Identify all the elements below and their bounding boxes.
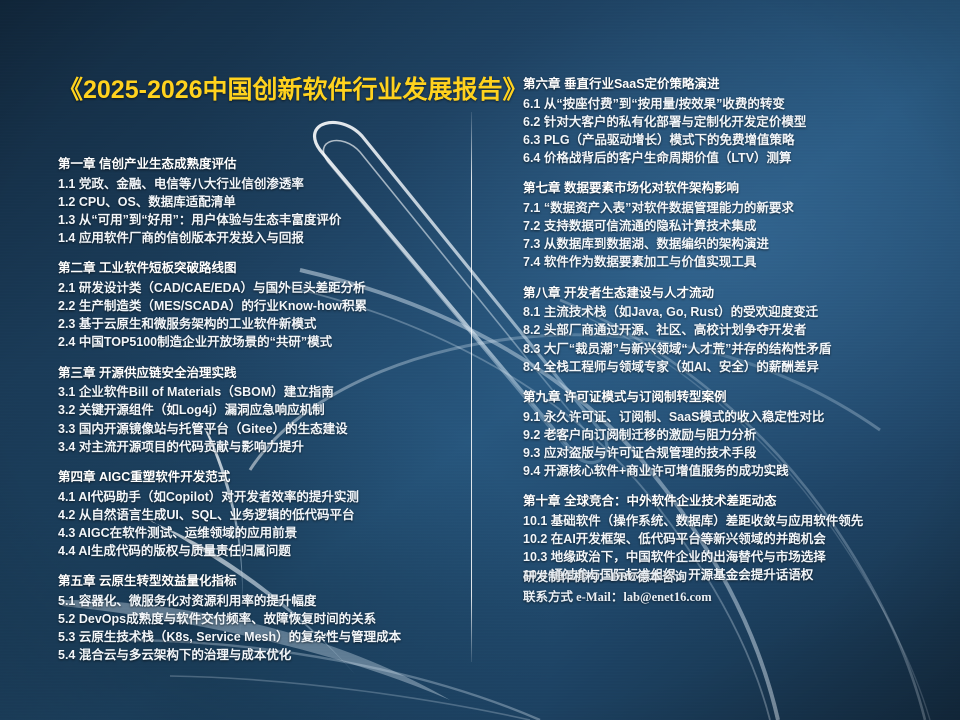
chapter-item: 6.1 从“按座付费”到“按用量/按效果”收费的转变 xyxy=(523,95,943,113)
chapter-item: 6.2 针对大客户的私有化部署与定制化开发定价模型 xyxy=(523,113,943,131)
chapter-block: 第三章 开源供应链安全治理实践3.1 企业软件Bill of Materials… xyxy=(58,365,458,456)
chapter-block: 第七章 数据要素市场化对软件架构影响7.1 “数据资产入表”对软件数据管理能力的… xyxy=(523,180,943,271)
chapter-title: 第四章 AIGC重塑软件开发范式 xyxy=(58,469,458,487)
chapter-title: 第八章 开发者生态建设与人才流动 xyxy=(523,285,943,303)
chapter-item: 6.4 价格战背后的客户生命周期价值（LTV）测算 xyxy=(523,149,943,167)
chapter-item: 7.2 支持数据可信流通的隐私计算技术集成 xyxy=(523,217,943,235)
report-slide: 《2025-2026中国创新软件行业发展报告》 第一章 信创产业生态成熟度评估1… xyxy=(0,0,960,720)
column-divider xyxy=(471,112,472,662)
chapter-item: 5.4 混合云与多云架构下的治理与成本优化 xyxy=(58,646,458,664)
footer-credits: 研发制作机构：DBC德本咨询 联系方式 e-Mail：lab@enet16.co… xyxy=(523,567,712,607)
chapter-item: 1.4 应用软件厂商的信创版本开发投入与回报 xyxy=(58,229,458,247)
chapter-item: 8.3 大厂“裁员潮”与新兴领域“人才荒”并存的结构性矛盾 xyxy=(523,340,943,358)
chapter-item: 8.4 全栈工程师与领域专家（如AI、安全）的薪酬差异 xyxy=(523,358,943,376)
chapter-item: 9.3 应对盗版与许可证合规管理的技术手段 xyxy=(523,444,943,462)
chapter-title: 第五章 云原生转型效益量化指标 xyxy=(58,573,458,591)
chapter-item: 8.2 头部厂商通过开源、社区、高校计划争夺开发者 xyxy=(523,321,943,339)
chapter-title: 第二章 工业软件短板突破路线图 xyxy=(58,260,458,278)
chapter-item: 5.2 DevOps成熟度与软件交付频率、故障恢复时间的关系 xyxy=(58,610,458,628)
chapter-title: 第七章 数据要素市场化对软件架构影响 xyxy=(523,180,943,198)
chapter-item: 10.2 在AI开发框架、低代码平台等新兴领域的并跑机会 xyxy=(523,530,943,548)
chapter-title: 第一章 信创产业生态成熟度评估 xyxy=(58,156,458,174)
chapter-item: 1.1 党政、金融、电信等八大行业信创渗透率 xyxy=(58,175,458,193)
chapter-item: 4.1 AI代码助手（如Copilot）对开发者效率的提升实测 xyxy=(58,488,458,506)
chapter-item: 10.1 基础软件（操作系统、数据库）差距收敛与应用软件领先 xyxy=(523,512,943,530)
chapter-item: 6.3 PLG（产品驱动增长）模式下的免费增值策略 xyxy=(523,131,943,149)
chapter-item: 4.4 AI生成代码的版权与质量责任归属问题 xyxy=(58,542,458,560)
chapter-item: 1.2 CPU、OS、数据库适配清单 xyxy=(58,193,458,211)
chapter-block: 第一章 信创产业生态成熟度评估1.1 党政、金融、电信等八大行业信创渗透率1.2… xyxy=(58,156,458,247)
producer-line: 研发制作机构：DBC德本咨询 xyxy=(523,567,712,587)
chapter-item: 4.2 从自然语言生成UI、SQL、业务逻辑的低代码平台 xyxy=(58,506,458,524)
chapter-item: 7.4 软件作为数据要素加工与价值实现工具 xyxy=(523,253,943,271)
chapter-item: 3.1 企业软件Bill of Materials（SBOM）建立指南 xyxy=(58,383,458,401)
chapter-item: 3.2 关键开源组件（如Log4j）漏洞应急响应机制 xyxy=(58,401,458,419)
chapter-title: 第六章 垂直行业SaaS定价策略演进 xyxy=(523,76,943,94)
chapter-item: 2.1 研发设计类（CAD/CAE/EDA）与国外巨头差距分析 xyxy=(58,279,458,297)
chapter-item: 9.2 老客户向订阅制迁移的激励与阻力分析 xyxy=(523,426,943,444)
chapter-item: 7.3 从数据库到数据湖、数据编织的架构演进 xyxy=(523,235,943,253)
chapter-block: 第八章 开发者生态建设与人才流动8.1 主流技术栈（如Java, Go, Rus… xyxy=(523,285,943,376)
chapter-item: 3.4 对主流开源项目的代码贡献与影响力提升 xyxy=(58,438,458,456)
contact-line: 联系方式 e-Mail：lab@enet16.com xyxy=(523,587,712,607)
chapter-item: 2.4 中国TOP5100制造企业开放场景的“共研”模式 xyxy=(58,333,458,351)
chapter-title: 第九章 许可证模式与订阅制转型案例 xyxy=(523,389,943,407)
chapter-item: 9.4 开源核心软件+商业许可增值服务的成功实践 xyxy=(523,462,943,480)
chapter-title: 第三章 开源供应链安全治理实践 xyxy=(58,365,458,383)
chapter-item: 1.3 从“可用”到“好用”：用户体验与生态丰富度评价 xyxy=(58,211,458,229)
chapter-item: 2.3 基于云原生和微服务架构的工业软件新模式 xyxy=(58,315,458,333)
chapter-item: 2.2 生产制造类（MES/SCADA）的行业Know-how积累 xyxy=(58,297,458,315)
left-toc-column: 第一章 信创产业生态成熟度评估1.1 党政、金融、电信等八大行业信创渗透率1.2… xyxy=(58,156,458,677)
chapter-block: 第四章 AIGC重塑软件开发范式4.1 AI代码助手（如Copilot）对开发者… xyxy=(58,469,458,560)
chapter-block: 第二章 工业软件短板突破路线图2.1 研发设计类（CAD/CAE/EDA）与国外… xyxy=(58,260,458,351)
chapter-item: 9.1 永久许可证、订阅制、SaaS模式的收入稳定性对比 xyxy=(523,408,943,426)
chapter-item: 5.1 容器化、微服务化对资源利用率的提升幅度 xyxy=(58,592,458,610)
report-title: 《2025-2026中国创新软件行业发展报告》 xyxy=(58,70,528,106)
chapter-block: 第六章 垂直行业SaaS定价策略演进6.1 从“按座付费”到“按用量/按效果”收… xyxy=(523,76,943,167)
chapter-item: 10.3 地缘政治下，中国软件企业的出海替代与市场选择 xyxy=(523,548,943,566)
chapter-title: 第十章 全球竞合：中外软件企业技术差距动态 xyxy=(523,493,943,511)
chapter-item: 8.1 主流技术栈（如Java, Go, Rust）的受欢迎度变迁 xyxy=(523,303,943,321)
chapter-block: 第五章 云原生转型效益量化指标5.1 容器化、微服务化对资源利用率的提升幅度5.… xyxy=(58,573,458,664)
right-toc-column: 第六章 垂直行业SaaS定价策略演进6.1 从“按座付费”到“按用量/按效果”收… xyxy=(523,76,943,597)
chapter-item: 4.3 AIGC在软件测试、运维领域的应用前景 xyxy=(58,524,458,542)
chapter-item: 7.1 “数据资产入表”对软件数据管理能力的新要求 xyxy=(523,199,943,217)
chapter-block: 第九章 许可证模式与订阅制转型案例9.1 永久许可证、订阅制、SaaS模式的收入… xyxy=(523,389,943,480)
chapter-item: 3.3 国内开源镜像站与托管平台（Gitee）的生态建设 xyxy=(58,420,458,438)
chapter-item: 5.3 云原生技术栈（K8s, Service Mesh）的复杂性与管理成本 xyxy=(58,628,458,646)
